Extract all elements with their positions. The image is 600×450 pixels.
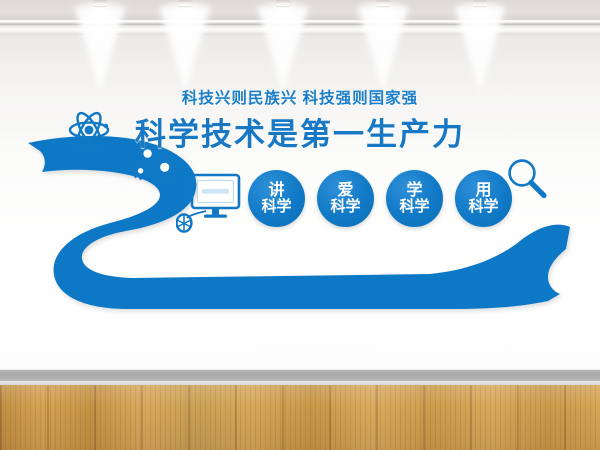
circle-4-line1: 用 xyxy=(475,182,491,199)
baseboard xyxy=(0,370,600,381)
mural-subtitle: 科技兴则民族兴 科技强则国家强 xyxy=(0,86,600,108)
spotlight-fixture-5 xyxy=(473,0,487,6)
mural-title: 科学技术是第一生产力 xyxy=(0,109,600,154)
spotlight-fixture-1 xyxy=(93,0,107,6)
circle-1-line2: 科学 xyxy=(261,199,291,215)
spotlight-fixture-4 xyxy=(376,0,390,6)
circle-3-line2: 科学 xyxy=(399,199,429,215)
circle-jiang-kexue[interactable]: 讲 科学 xyxy=(248,170,305,227)
mural-artwork: 科技兴则民族兴 科技强则国家强 科学技术是第一生产力 讲 科学 爱 科学 学 科… xyxy=(0,35,600,335)
spotlight-fixture-3 xyxy=(276,0,290,6)
circle-2-line2: 科学 xyxy=(330,199,360,215)
circle-yong-kexue[interactable]: 用 科学 xyxy=(455,170,512,227)
floor-shading xyxy=(0,385,600,450)
circle-4-line2: 科学 xyxy=(468,199,498,215)
spotlight-fixture-2 xyxy=(178,0,192,6)
circle-2-line1: 爱 xyxy=(337,182,353,199)
wall-mural-scene: 科技兴则民族兴 科技强则国家强 科学技术是第一生产力 讲 科学 爱 科学 学 科… xyxy=(0,0,600,450)
circle-3-line1: 学 xyxy=(406,182,422,199)
circle-xue-kexue[interactable]: 学 科学 xyxy=(386,170,443,227)
circle-1-line1: 讲 xyxy=(268,182,284,199)
circle-ai-kexue[interactable]: 爱 科学 xyxy=(317,170,374,227)
